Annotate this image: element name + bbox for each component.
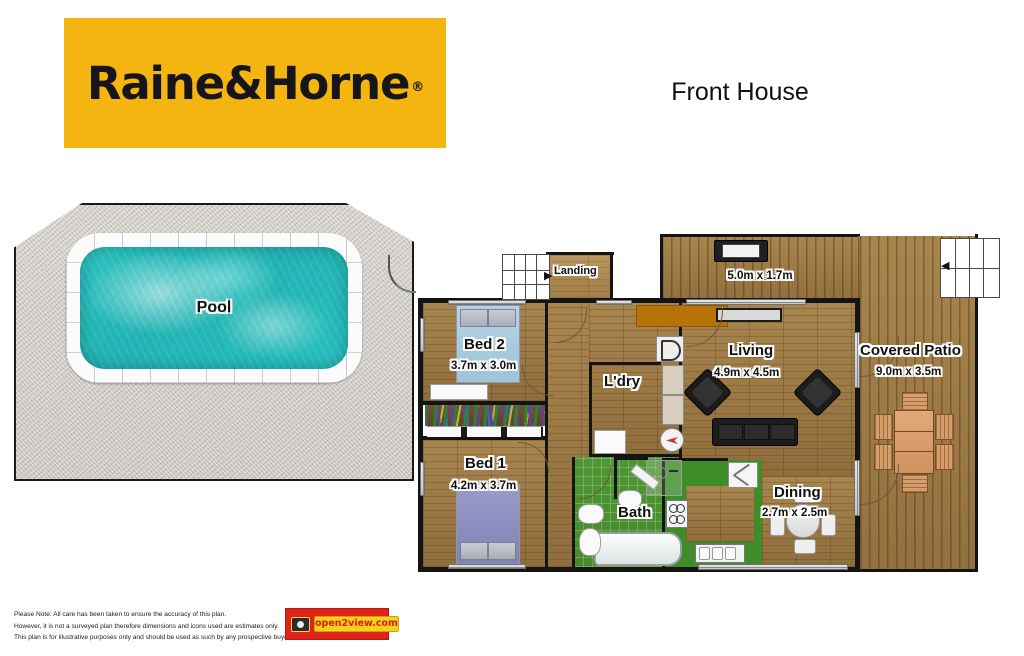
wall-hall-left <box>545 303 548 567</box>
stairs-direction-left-icon: ◀ <box>941 259 949 272</box>
wall-landing-right <box>610 252 613 300</box>
floorplan-canvas: Raine&Horne® Front House Pool 5.0m x 1.7… <box>0 0 1024 656</box>
washer-icon <box>656 336 684 362</box>
dryer-icon <box>660 428 684 452</box>
laundry-cupboard-icon <box>662 395 684 425</box>
patio-chair-bottom-icon <box>902 474 928 493</box>
patio-chair-top-icon <box>902 392 928 411</box>
pool-label: Pool <box>14 299 414 317</box>
laundry-tub-icon <box>662 365 684 395</box>
covered-patio-label: Covered Patio <box>860 342 961 359</box>
camera-icon <box>291 617 310 632</box>
bbq-icon <box>714 240 768 262</box>
dining-label: Dining <box>774 484 821 501</box>
disclaimer-line-2: However, it is not a surveyed plan there… <box>14 621 294 633</box>
stovetop-icon <box>666 500 688 528</box>
front-deck-dimension: 5.0m x 1.7m <box>686 270 834 282</box>
wall-landing-top <box>546 252 614 255</box>
disclaimer-line-3: This plan is for illustrative purposes o… <box>14 632 294 644</box>
wall-laundry-top <box>589 362 661 365</box>
bed1-label: Bed 1 <box>465 455 506 472</box>
brand-name-text: Raine&Horne <box>87 57 409 110</box>
bed2-label: Bed 2 <box>464 336 505 353</box>
kitchen-sink-icon <box>695 544 745 563</box>
wall-laundry-left <box>589 362 592 457</box>
interior-stairs-landing <box>502 254 550 300</box>
wall-patio-bottom <box>858 569 978 572</box>
brand-wordmark: Raine&Horne® <box>87 57 423 110</box>
open2view-wordmark: open2view.com <box>314 616 399 632</box>
disclaimer-note: Please Note: All care has been taken to … <box>14 609 294 644</box>
laundry-label: L'dry <box>604 373 640 390</box>
wall-bath-wc-divider <box>614 457 617 499</box>
bed1-bed-icon <box>456 484 520 564</box>
robe-wardrobe <box>425 405 545 426</box>
disclaimer-line-1: Please Note: All care has been taken to … <box>14 609 294 621</box>
landing-label: Landing <box>554 265 597 277</box>
bed2-dresser-icon <box>430 384 488 400</box>
window-laundry-top <box>596 300 632 305</box>
living-dimension: 4.9m x 4.5m <box>714 367 779 379</box>
stairs-direction-right-icon: ▶ <box>544 269 552 282</box>
window-bed2-top <box>448 300 526 305</box>
wall-bath-top-segment <box>614 457 648 460</box>
bed1-dimension: 4.2m x 3.7m <box>451 480 516 492</box>
laundry-cabinet-icon <box>594 430 626 454</box>
patio-chair-left-upper-icon <box>874 414 893 440</box>
bath-basin-icon <box>578 504 604 524</box>
registered-trademark-icon: ® <box>411 80 423 95</box>
sliding-door-dining-patio <box>854 460 860 516</box>
raine-and-horne-logo: Raine&Horne® <box>64 18 446 148</box>
window-living-top <box>686 299 806 305</box>
covered-patio-dimension: 9.0m x 3.5m <box>876 366 941 378</box>
patio-chair-right-lower-icon <box>935 444 954 470</box>
bed2-dimension: 3.7m x 3.0m <box>451 360 516 372</box>
patio-table-icon <box>894 410 934 474</box>
open2view-logo[interactable]: open2view.com <box>285 608 389 640</box>
wall-front-deck-top <box>660 234 860 237</box>
pool-area: Pool <box>14 203 414 481</box>
window-bed1-left <box>420 462 425 496</box>
wall-front-deck-left <box>660 234 663 298</box>
house-floorplan: 5.0m x 1.7m ◀ ▶ Landing Bed 2 <box>418 232 978 572</box>
bathtub-icon <box>594 532 682 566</box>
patio-chair-right-upper-icon <box>935 414 954 440</box>
living-label: Living <box>729 342 773 359</box>
sliding-door-living-patio <box>854 332 860 388</box>
exhaust-fan-icon <box>728 462 758 488</box>
wall-bath-left <box>572 457 575 567</box>
window-dining-bottom <box>698 564 848 570</box>
robe-doors <box>427 426 543 437</box>
page-title: Front House <box>620 78 860 107</box>
living-sofa-icon <box>712 418 798 446</box>
window-bed2-left <box>420 318 425 352</box>
toilet-icon <box>579 528 601 556</box>
kitchen-island-icon <box>686 486 754 542</box>
bath-label: Bath <box>618 504 651 521</box>
television-icon <box>716 308 782 322</box>
window-bed1-bottom <box>448 564 526 569</box>
dining-dimension: 2.7m x 2.5m <box>762 507 827 519</box>
